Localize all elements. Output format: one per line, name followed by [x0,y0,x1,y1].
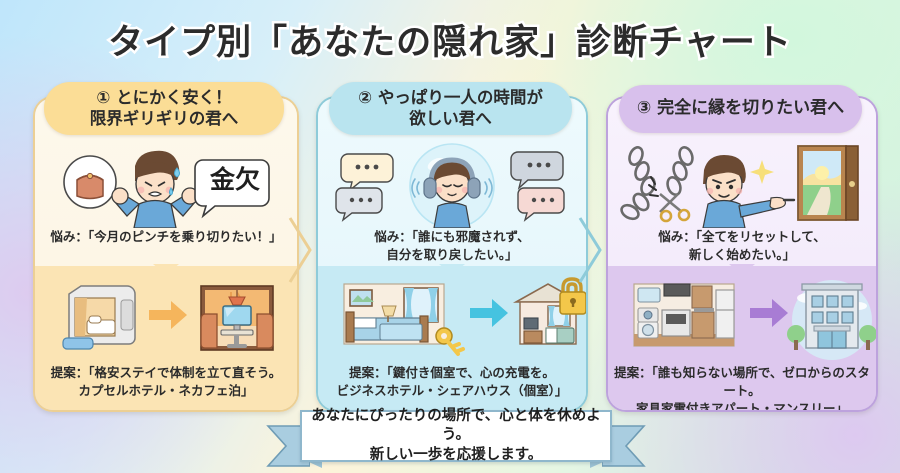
card3-worry-text: 悩み：「全てをリセットして、 新しく始めたい。」 [616,228,868,264]
card1-bottom-section: 提案：「格安ステイで体制を立て直そう。 カプセルホテル・ネカフェ泊」 [35,266,297,410]
page-title: タイプ別「あなたの隠れ家」診断チャート [0,14,900,65]
arrow-icon [470,299,508,327]
card2-advice-line2: ビジネスホテル・シェアハウス（個室）」 [324,382,580,400]
card3-advice-line2: 家具家電付きアパート・マンスリー」 [614,400,870,412]
card2-header-line1: ② やっぱり一人の時間が [358,88,543,109]
card1-illustration-solution [35,276,297,360]
footer-line2: 新しい一歩を応援します。 [370,446,543,466]
card3-header-line1: ③ 完全に縁を切りたい君へ [637,98,844,119]
card1-advice-line2: カプセルホテル・ネカフェ泊」 [41,382,291,400]
kitchen-to-apartment-illustration [608,276,876,360]
card2-worry-line2: 自分を取り戻したい。」 [326,246,578,264]
footer-message: あなたにぴったりの場所で、心と体を休めよう。 新しい一歩を応援します。 [300,410,612,462]
headphones-person-illustration [318,140,586,228]
infographic-canvas: タイプ別「あなたの隠れ家」診断チャート [0,0,900,473]
card2-worry-text: 悩み：「誰にも邪魔されず、 自分を取り戻したい。」 [326,228,578,264]
type-card-reset: 悩み：「全てをリセットして、 新しく始めたい。」 [606,96,878,412]
speech-bubble-text: 金欠 [209,165,260,194]
card1-worry-line1: 悩み：「今月のピンチを乗り切りたい！」 [43,228,289,246]
card3-worry-line1: 悩み：「全てをリセットして、 [616,228,868,246]
card2-worry-line1: 悩み：「誰にも邪魔されず、 [326,228,578,246]
card1-header-pill[interactable]: ① とにかく安く！ 限界ギリギリの君へ [44,82,284,135]
card3-illustration-solution [608,276,876,360]
card1-advice-line1: 提案：「格安ステイで体制を立て直そう。 [41,364,291,382]
arrow-icon [750,299,788,327]
footer-line1: あなたにぴったりの場所で、心と体を休めよう。 [302,407,610,446]
footer-ribbon: あなたにぴったりの場所で、心と体を休めよう。 新しい一歩を応援します。 [266,410,646,468]
card2-advice-line1: 提案：「鍵付き個室で、心の充電を。 [324,364,580,382]
card3-worry-line2: 新しく始めたい。」 [616,246,868,264]
card1-illustration-worry: 金欠 [35,140,297,226]
capsule-to-netcafe-illustration [35,276,297,360]
card2-bottom-section: 提案：「鍵付き個室で、心の充電を。 ビジネスホテル・シェアハウス（個室）」 [318,266,586,410]
card2-header-line2: 欲しい君へ [358,109,543,130]
card3-advice-text: 提案：「誰も知らない場所で、ゼロからのスタート。 家具家電付きアパート・マンスリ… [614,364,870,412]
card1-advice-text: 提案：「格安ステイで体制を立て直そう。 カプセルホテル・ネカフェ泊」 [41,364,291,400]
card2-header-pill[interactable]: ② やっぱり一人の時間が 欲しい君へ [329,82,572,135]
type-card-cheap: 金欠 悩み：「今月のピンチを乗り切りたい！」 [33,96,299,412]
card2-illustration-worry [318,140,586,226]
card3-illustration-worry [608,140,876,226]
type-card-alone: 悩み：「誰にも邪魔されず、 自分を取り戻したい。」 [316,96,588,412]
card3-bottom-section: 提案：「誰も知らない場所で、ゼロからのスタート。 家具家電付きアパート・マンスリ… [608,266,876,410]
bedroom-to-house-illustration [318,276,586,360]
card1-header-line1: ① とにかく安く！ [90,88,239,109]
card1-header-line2: 限界ギリギリの君へ [90,109,239,130]
stressed-person-illustration: 金欠 [35,140,297,228]
card3-header-pill[interactable]: ③ 完全に縁を切りたい君へ [619,85,862,133]
arrow-icon [149,301,187,329]
card1-worry-text: 悩み：「今月のピンチを乗り切りたい！」 [43,228,289,246]
break-chains-open-door-illustration [608,140,876,228]
chevron-connector-2 [578,216,604,284]
card3-advice-line1: 提案：「誰も知らない場所で、ゼロからのスタート。 [614,364,870,400]
card2-illustration-solution [318,276,586,360]
card2-advice-text: 提案：「鍵付き個室で、心の充電を。 ビジネスホテル・シェアハウス（個室）」 [324,364,580,400]
chevron-connector-1 [288,216,314,284]
